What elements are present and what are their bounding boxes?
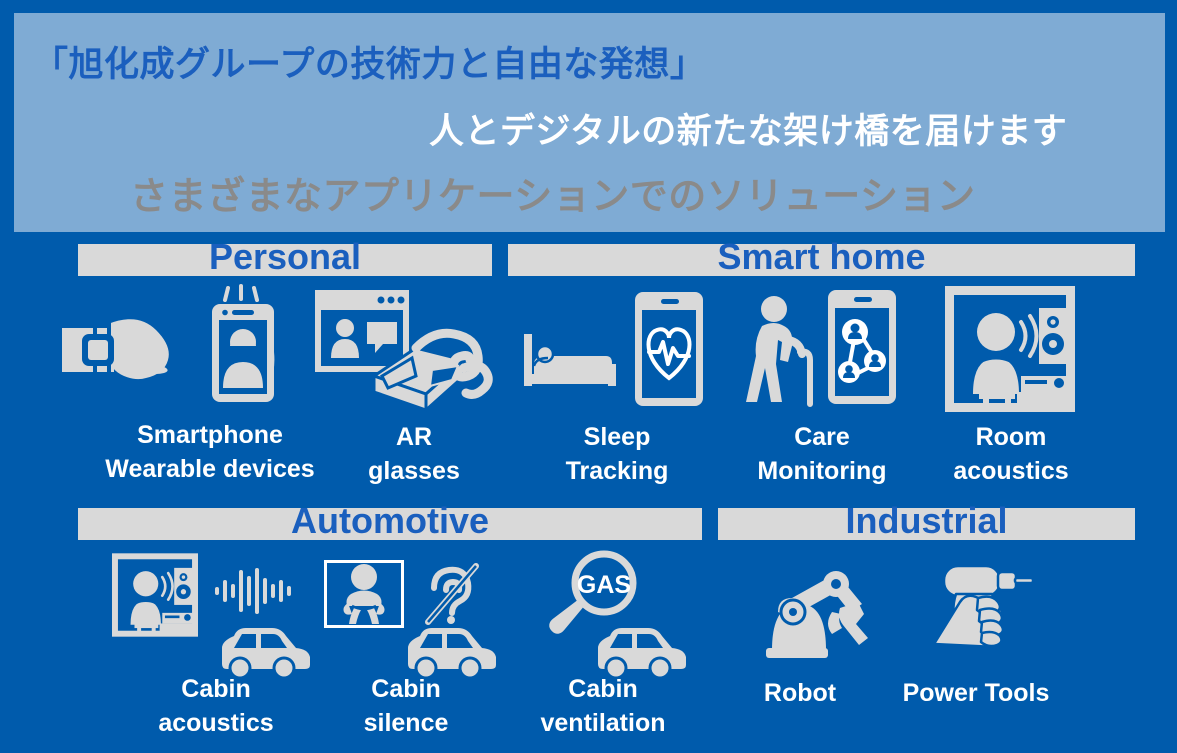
item-label-cabin-ventilation: Cabin ventilation (510, 672, 696, 740)
item-label-cabin-acoustics: Cabin acoustics (136, 672, 296, 740)
item-label-cabin-silence: Cabin silence (328, 672, 484, 740)
header-line-2: 人とデジタルの新たな架け橋を届けます (429, 103, 1067, 154)
item-label-power-tools: Power Tools (888, 676, 1064, 710)
smartwatch-wrist-icon (62, 310, 182, 390)
item-label-sleep-tracking: Sleep Tracking (528, 420, 706, 488)
ar-glasses-icon (368, 318, 496, 418)
section-title-personal: Personal (78, 241, 492, 273)
room-speaker-listener-icon (110, 552, 200, 638)
slide-canvas: 「旭化成グループの技術力と自由な発想」 人とデジタルの新たな架け橋を届けます さ… (0, 0, 1177, 753)
header-panel: 「旭化成グループの技術力と自由な発想」 人とデジタルの新たな架け橋を届けます さ… (14, 13, 1165, 232)
room-speaker-listener-icon (943, 284, 1077, 414)
header-line-3: さまざまなアプリケーションでのソリューション (130, 165, 975, 220)
header-line-1: 「旭化成グループの技術力と自由な発想」 (33, 36, 705, 87)
car-icon (588, 626, 686, 676)
hand-drill-icon (930, 558, 1036, 658)
car-icon (398, 626, 496, 676)
person-in-bed-icon (524, 330, 620, 392)
phone-heartbeat-icon (633, 290, 705, 408)
baby-icon (324, 560, 404, 628)
hand-holding-phone-icon (196, 286, 296, 404)
car-icon (212, 626, 310, 676)
item-label-care-monitoring: Care Monitoring (730, 420, 914, 488)
phone-network-people-icon (826, 288, 898, 406)
no-hearing-icon (420, 562, 482, 628)
item-label-smartphone-wearable: Smartphone Wearable devices (82, 418, 338, 486)
item-label-robot: Robot (722, 676, 878, 710)
item-label-ar-glasses: AR glasses (346, 420, 482, 488)
svg-text:GAS: GAS (577, 571, 631, 599)
elderly-with-cane-icon (740, 296, 818, 406)
section-title-automotive: Automotive (78, 505, 702, 537)
section-title-industrial: Industrial (718, 505, 1135, 537)
item-label-room-acoustics: Room acoustics (930, 420, 1092, 488)
audio-waveform-icon (214, 568, 294, 614)
robot-arm-icon (762, 560, 878, 660)
section-title-smart-home: Smart home (508, 241, 1135, 273)
